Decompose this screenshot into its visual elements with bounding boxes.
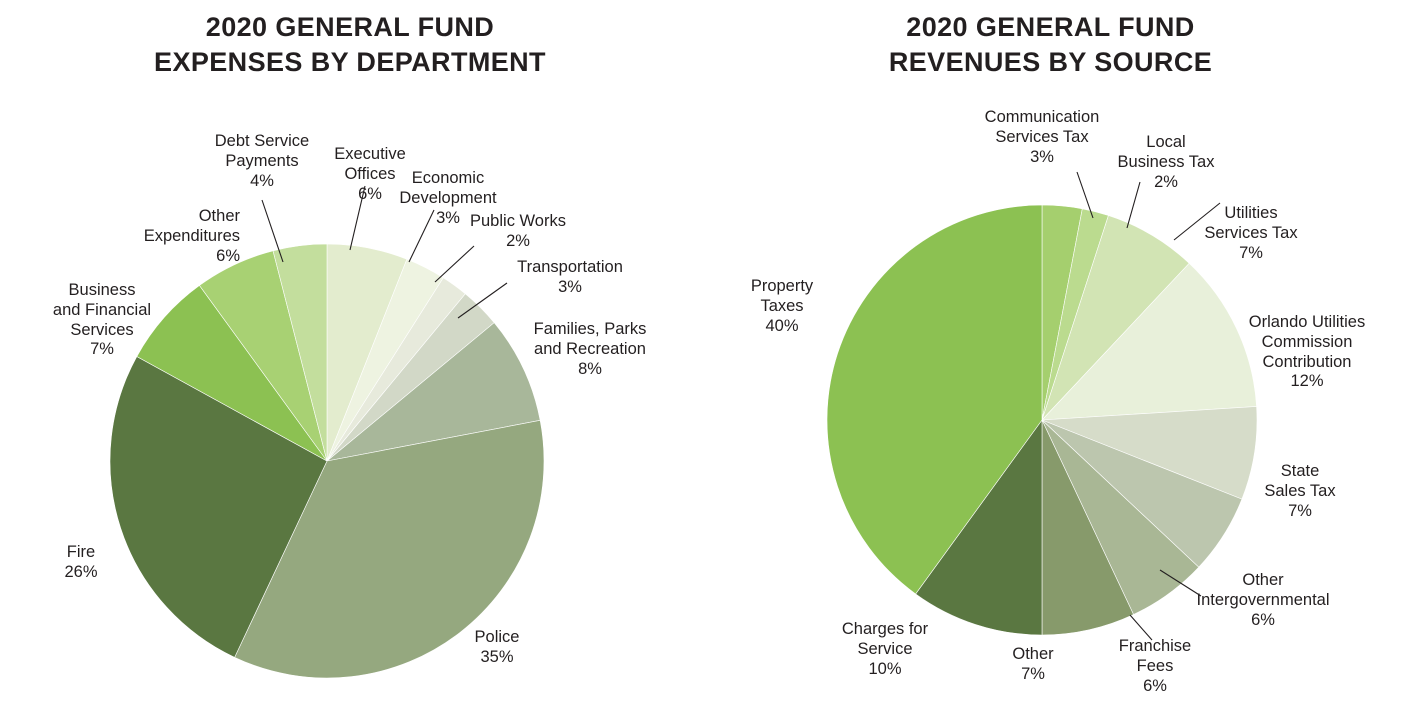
label-police-name: Police bbox=[475, 628, 520, 646]
label-other-intergovernmental-name: Other bbox=[1242, 571, 1283, 589]
label-other-revenue-name: Other bbox=[1012, 645, 1053, 663]
label-transportation-name: Transportation bbox=[517, 258, 623, 276]
label-debt-service-name: Debt Service bbox=[215, 132, 309, 150]
label-state-sales-tax-name2: Sales Tax bbox=[1264, 482, 1335, 500]
label-families-parks-name2: and Recreation bbox=[534, 340, 646, 358]
label-franchise-fees-name2: Fees bbox=[1137, 657, 1174, 675]
label-public-works: Public Works 2% bbox=[458, 212, 578, 252]
label-business-financial-pct: 7% bbox=[35, 340, 169, 360]
label-property-taxes-name2: Taxes bbox=[760, 297, 803, 315]
label-families-parks-name: Families, Parks bbox=[534, 320, 647, 338]
label-charges-for-service: Charges for Service 10% bbox=[822, 620, 948, 679]
label-local-business-tax-pct: 2% bbox=[1105, 173, 1227, 193]
label-other-intergovernmental-name2: Intergovernmental bbox=[1197, 591, 1330, 609]
label-executive-offices-name: Executive bbox=[334, 145, 406, 163]
label-economic-development-name2: Development bbox=[399, 189, 496, 207]
label-transportation: Transportation 3% bbox=[500, 258, 640, 298]
label-debt-service-pct: 4% bbox=[200, 172, 324, 192]
label-fire-pct: 26% bbox=[42, 563, 120, 583]
label-ouc-contribution-name3: Contribution bbox=[1263, 353, 1352, 371]
label-franchise-fees-pct: 6% bbox=[1100, 677, 1210, 697]
label-debt-service-name2: Payments bbox=[225, 152, 298, 170]
label-local-business-tax: Local Business Tax 2% bbox=[1105, 133, 1227, 192]
expenses-pie-slices bbox=[110, 244, 544, 678]
label-other-expenditures-name: Other bbox=[199, 207, 240, 225]
label-property-taxes: Property Taxes 40% bbox=[728, 277, 836, 336]
label-franchise-fees: Franchise Fees 6% bbox=[1100, 637, 1210, 696]
label-fire: Fire 26% bbox=[42, 543, 120, 583]
label-public-works-pct: 2% bbox=[458, 232, 578, 252]
expenses-chart-panel: 2020 GENERAL FUND EXPENSES BY DEPARTMENT… bbox=[0, 0, 700, 714]
label-business-financial-name3: Services bbox=[70, 321, 133, 339]
label-utilities-services-tax-name: Utilities bbox=[1224, 204, 1277, 222]
label-other-expenditures-pct: 6% bbox=[25, 247, 240, 267]
label-local-business-tax-name: Local bbox=[1146, 133, 1185, 151]
label-other-revenue: Other 7% bbox=[990, 645, 1076, 685]
label-other-intergovernmental: Other Intergovernmental 6% bbox=[1174, 571, 1352, 630]
label-business-financial-services: Business and Financial Services 7% bbox=[35, 281, 169, 360]
label-other-revenue-pct: 7% bbox=[990, 665, 1076, 685]
label-ouc-contribution-name2: Commission bbox=[1262, 333, 1353, 351]
label-police-pct: 35% bbox=[448, 648, 546, 668]
revenues-chart-panel: 2020 GENERAL FUND REVENUES BY SOURCE Com… bbox=[700, 0, 1401, 714]
label-state-sales-tax-name: State bbox=[1281, 462, 1320, 480]
label-state-sales-tax-pct: 7% bbox=[1246, 502, 1354, 522]
label-business-financial-name: Business bbox=[69, 281, 136, 299]
label-business-financial-name2: and Financial bbox=[53, 301, 151, 319]
label-other-expenditures: Other Expenditures 6% bbox=[25, 207, 240, 266]
label-public-works-name: Public Works bbox=[470, 212, 566, 230]
label-other-expenditures-name2: Expenditures bbox=[144, 227, 240, 245]
label-utilities-services-tax: Utilities Services Tax 7% bbox=[1188, 204, 1314, 263]
label-other-intergovernmental-pct: 6% bbox=[1174, 611, 1352, 631]
label-charges-for-service-name: Charges for bbox=[842, 620, 928, 638]
label-ouc-contribution-name: Orlando Utilities bbox=[1249, 313, 1365, 331]
label-property-taxes-pct: 40% bbox=[728, 317, 836, 337]
label-police: Police 35% bbox=[448, 628, 546, 668]
label-local-business-tax-name2: Business Tax bbox=[1118, 153, 1215, 171]
label-executive-offices-name2: Offices bbox=[344, 165, 395, 183]
label-state-sales-tax: State Sales Tax 7% bbox=[1246, 462, 1354, 521]
label-communication-services-tax: Communication Services Tax 3% bbox=[962, 108, 1122, 167]
label-communication-services-tax-pct: 3% bbox=[962, 148, 1122, 168]
label-property-taxes-name: Property bbox=[751, 277, 813, 295]
label-families-parks-recreation: Families, Parks and Recreation 8% bbox=[514, 320, 666, 379]
label-fire-name: Fire bbox=[67, 543, 95, 561]
label-communication-services-tax-name2: Services Tax bbox=[995, 128, 1088, 146]
label-economic-development-name: Economic bbox=[412, 169, 484, 187]
label-utilities-services-tax-name2: Services Tax bbox=[1204, 224, 1297, 242]
label-families-parks-pct: 8% bbox=[514, 360, 666, 380]
label-utilities-services-tax-pct: 7% bbox=[1188, 244, 1314, 264]
label-franchise-fees-name: Franchise bbox=[1119, 637, 1191, 655]
label-ouc-contribution-pct: 12% bbox=[1217, 372, 1397, 392]
label-transportation-pct: 3% bbox=[500, 278, 640, 298]
label-charges-for-service-pct: 10% bbox=[822, 660, 948, 680]
label-charges-for-service-name2: Service bbox=[857, 640, 912, 658]
label-ouc-contribution: Orlando Utilities Commission Contributio… bbox=[1217, 313, 1397, 392]
label-communication-services-tax-name: Communication bbox=[985, 108, 1100, 126]
label-debt-service-payments: Debt Service Payments 4% bbox=[200, 132, 324, 191]
